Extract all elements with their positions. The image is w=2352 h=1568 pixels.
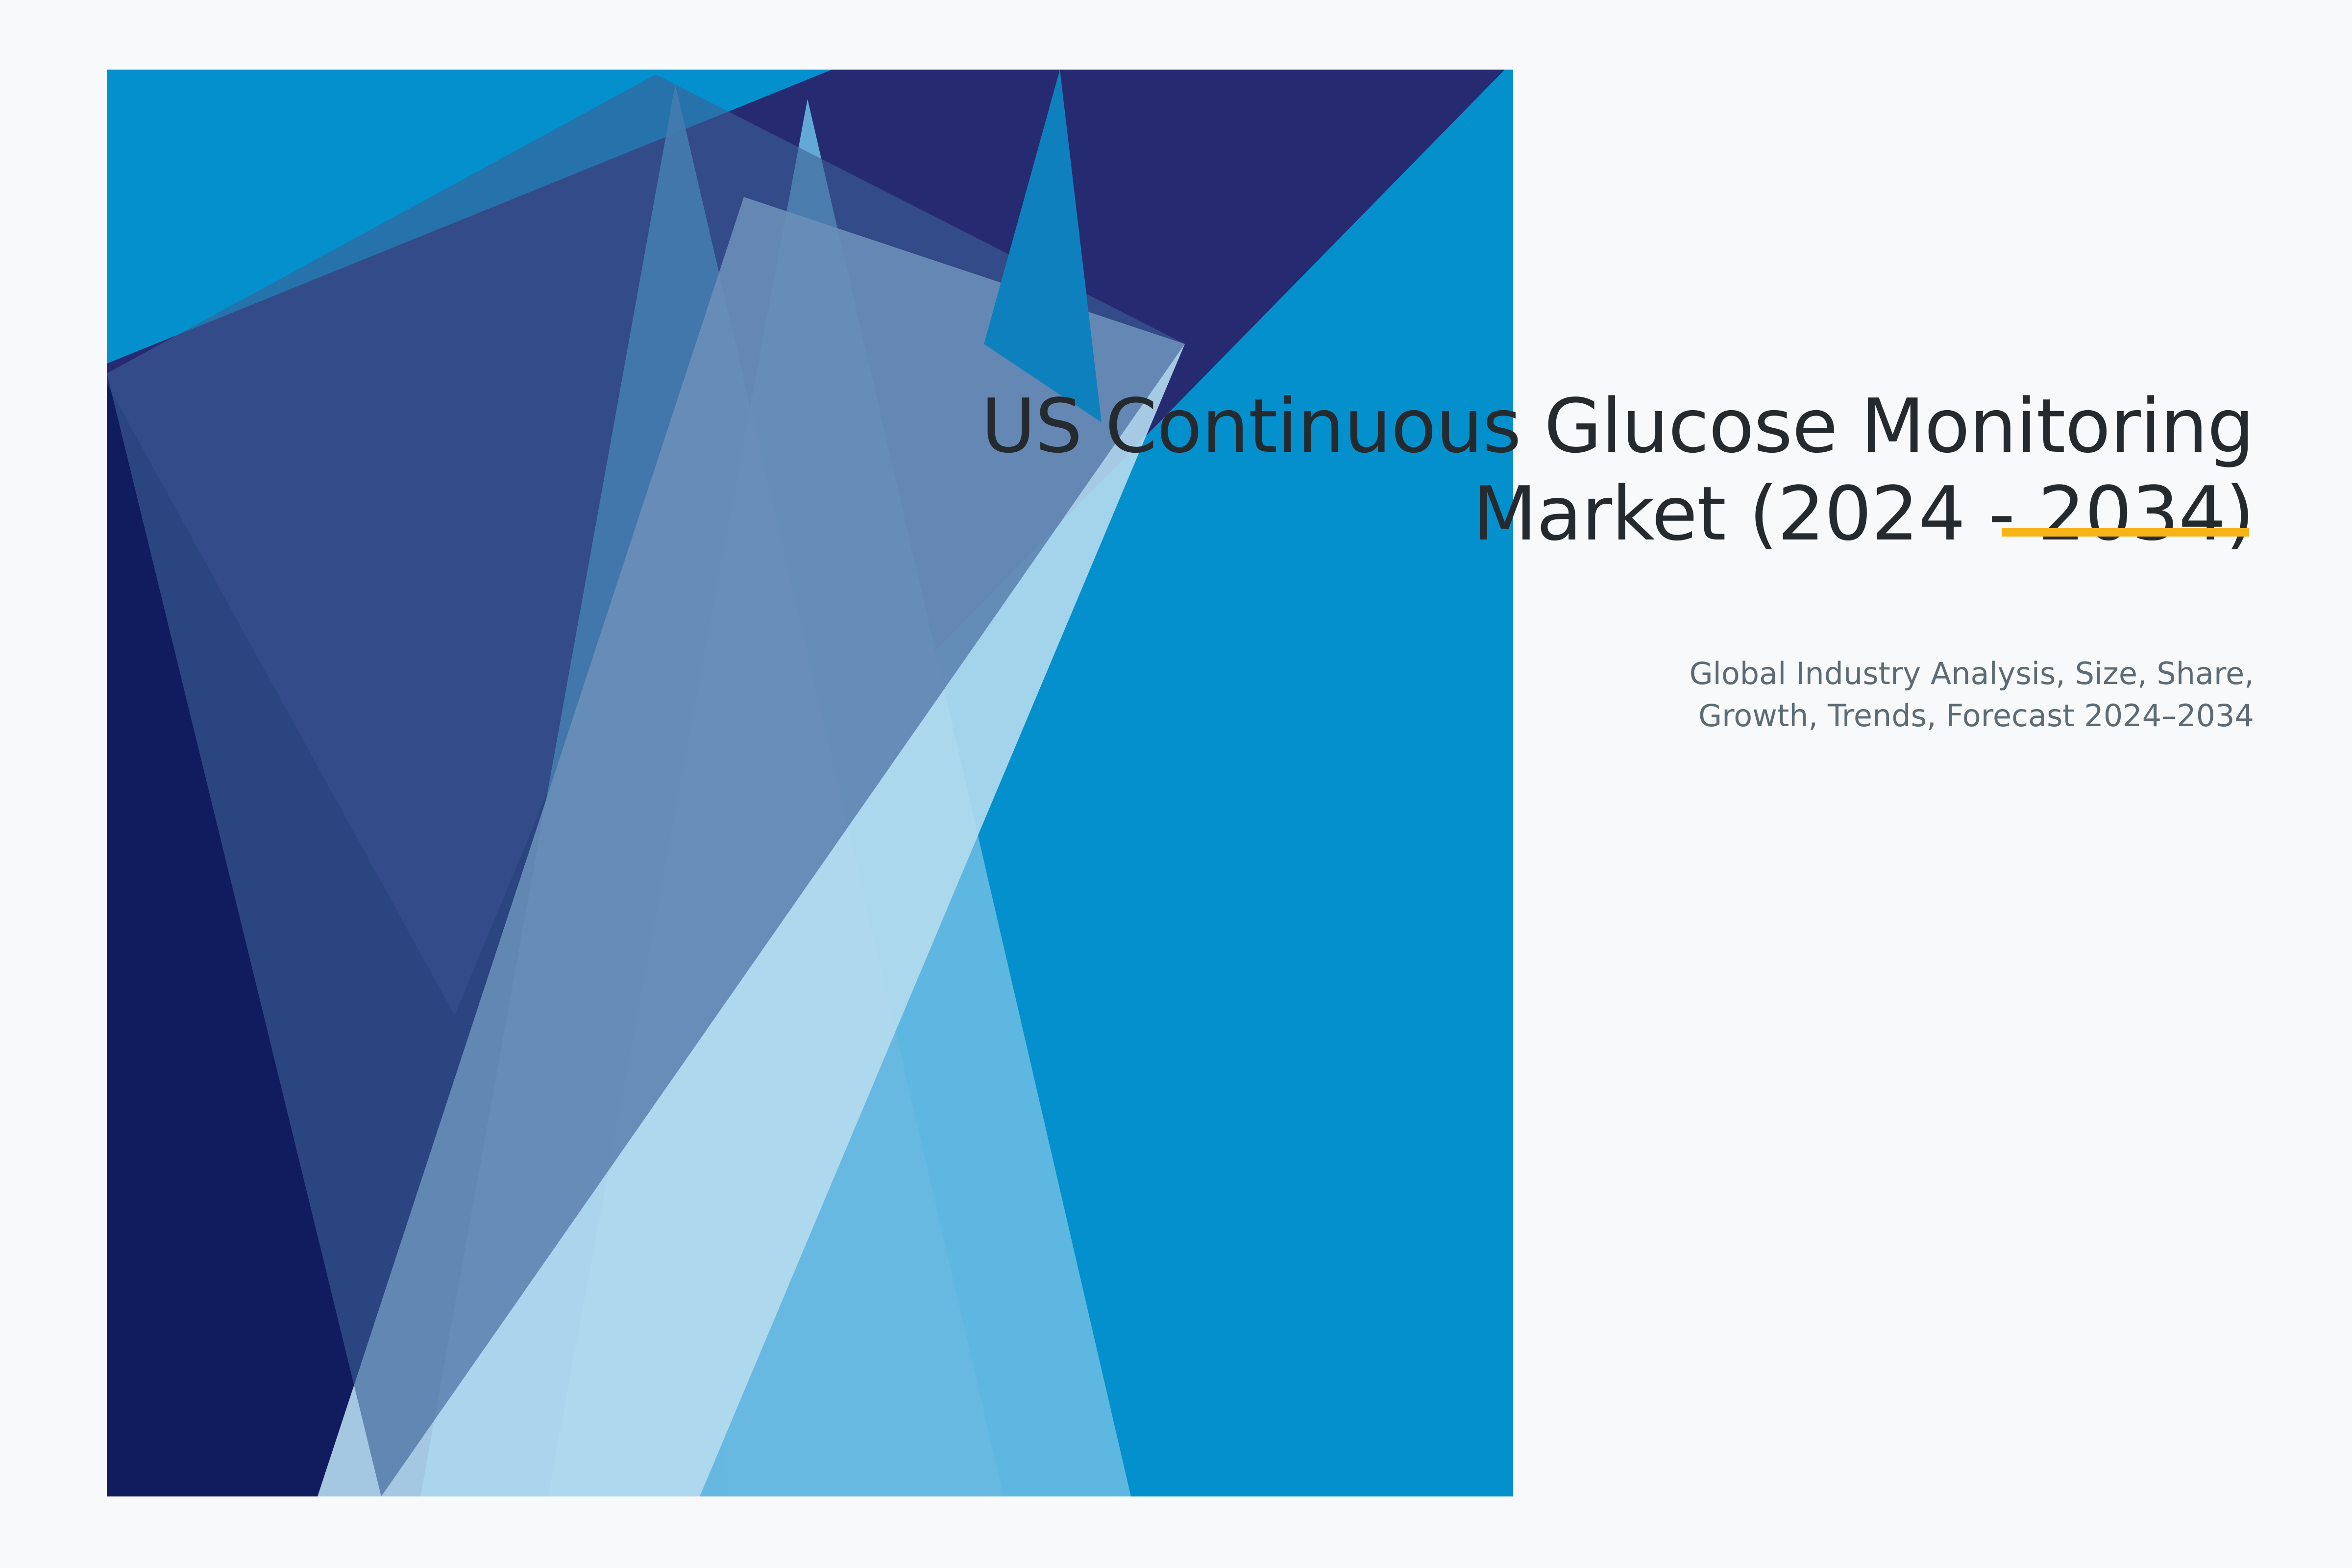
title-accent-underline	[2002, 528, 2249, 537]
report-cover: US Continuous Glucose MonitoringMarket (…	[0, 0, 2352, 1568]
page-subtitle-line-1: Global Industry Analysis, Size, Share,	[1690, 656, 2254, 691]
page-title-line-1: US Continuous Glucose Monitoring	[981, 383, 2254, 469]
abstract-geometric-artwork	[107, 70, 1508, 1496]
page-title-line-2: Market (2024 - 2034)	[1472, 470, 2254, 557]
page-subtitle-line-2: Growth, Trends, Forecast 2024–2034	[1698, 698, 2254, 734]
page-subtitle: Global Industry Analysis, Size, Share,Gr…	[833, 653, 2254, 736]
